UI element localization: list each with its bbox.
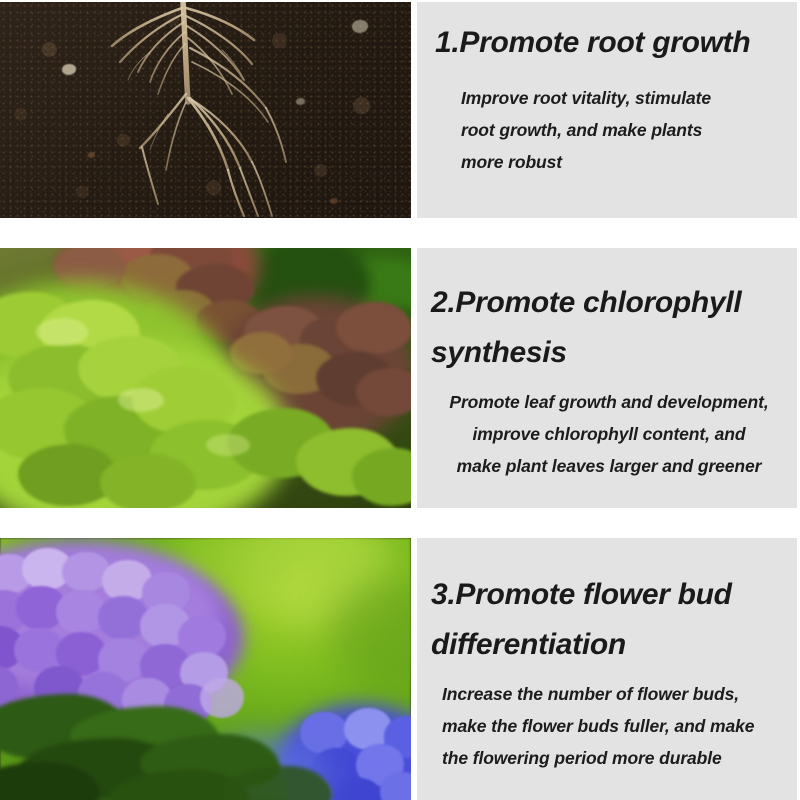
- leaf-highlight: [36, 318, 88, 346]
- feature-row-2: 2.Promote chlorophyll synthesis Promote …: [0, 248, 800, 508]
- hydrangea-floret: [200, 678, 244, 718]
- feature-text-panel-2: 2.Promote chlorophyll synthesis Promote …: [417, 248, 797, 508]
- red-lettuce-leaf: [336, 302, 411, 354]
- purple-hydrangea-photo: [0, 538, 411, 800]
- feature-heading-1: 1.Promote root growth: [417, 2, 797, 68]
- leaf-highlight: [118, 388, 164, 412]
- root-system-illustration: [0, 2, 411, 218]
- feature-body-2: Promote leaf growth and development, imp…: [417, 378, 797, 482]
- feature-body-3: Increase the number of flower buds, make…: [417, 670, 797, 774]
- feature-text-panel-3: 3.Promote flower bud differentiation Inc…: [417, 538, 797, 800]
- feature-heading-2: 2.Promote chlorophyll synthesis: [417, 248, 797, 378]
- feature-row-3: 3.Promote flower bud differentiation Inc…: [0, 538, 800, 800]
- feature-text-panel-1: 1.Promote root growth Improve root vital…: [417, 2, 797, 218]
- lettuce-bed-photo: [0, 248, 411, 508]
- feature-body-1: Improve root vitality, stimulate root gr…: [417, 68, 797, 178]
- green-lettuce-leaf: [100, 454, 196, 508]
- feature-row-1: 1.Promote root growth Improve root vital…: [0, 2, 800, 218]
- plant-roots-in-soil-photo: [0, 2, 411, 218]
- benefits-infographic: 1.Promote root growth Improve root vital…: [0, 0, 800, 800]
- leaf-highlight: [206, 434, 250, 456]
- feature-heading-3: 3.Promote flower bud differentiation: [417, 538, 797, 670]
